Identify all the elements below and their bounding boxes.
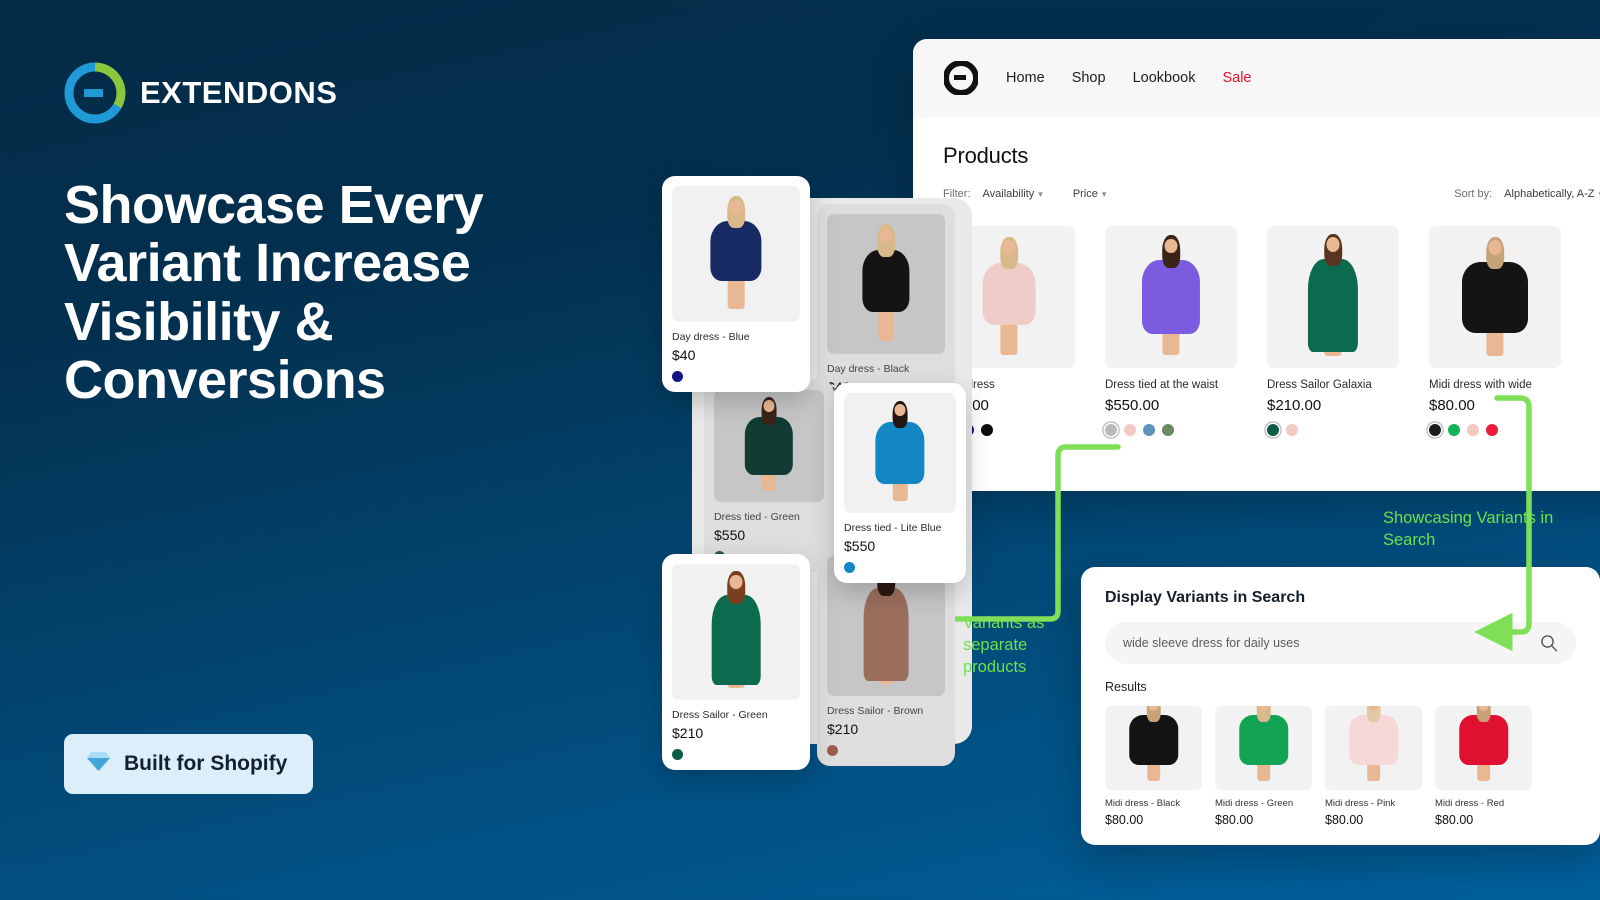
nav-link-sale[interactable]: Sale xyxy=(1222,70,1251,86)
search-input[interactable]: wide sleeve dress for daily uses xyxy=(1105,622,1576,664)
search-result-photo xyxy=(1325,706,1422,790)
variant-price: $550 xyxy=(714,527,824,543)
product-card[interactable]: Midi dress with wide$80.00 xyxy=(1429,226,1561,436)
store-circle-e-logo-icon[interactable] xyxy=(944,61,978,95)
dress-figure xyxy=(1267,226,1399,368)
product-price: $550.00 xyxy=(1105,397,1237,414)
built-for-shopify-badge: Built for Shopify xyxy=(64,734,313,794)
product-name: Dress Sailor Galaxia xyxy=(1267,379,1399,391)
variant-card[interactable]: Dress tied - Lite Blue$550 xyxy=(834,383,966,583)
variant-card[interactable]: Dress Sailor - Green$210 xyxy=(662,554,810,770)
color-swatch[interactable] xyxy=(1486,424,1498,436)
product-photo xyxy=(1267,226,1399,368)
extendons-circle-e-logo-icon xyxy=(64,62,126,124)
dress-figure xyxy=(1105,706,1202,790)
color-swatch[interactable] xyxy=(1162,424,1174,436)
dress-figure xyxy=(827,214,945,354)
diamond-icon xyxy=(86,750,111,778)
search-result-price: $80.00 xyxy=(1105,813,1202,827)
variant-name: Day dress - Blue xyxy=(672,331,800,343)
variant-name: Dress tied - Lite Blue xyxy=(844,522,956,534)
search-result-photo xyxy=(1215,706,1312,790)
color-swatch[interactable] xyxy=(1448,424,1460,436)
search-result-photo xyxy=(1435,706,1532,790)
product-card[interactable]: Dress Sailor Galaxia$210.00 xyxy=(1267,226,1399,436)
variant-color-swatch[interactable] xyxy=(844,562,855,573)
variant-photo xyxy=(827,214,945,354)
page-title: Products xyxy=(943,143,1600,169)
search-panel: Display Variants in Search wide sleeve d… xyxy=(1081,567,1600,845)
badge-label: Built for Shopify xyxy=(124,752,287,776)
variant-photo xyxy=(672,186,800,322)
variant-price: $210 xyxy=(672,725,800,741)
nav-link-shop[interactable]: Shop xyxy=(1072,70,1106,86)
product-price: $80.00 xyxy=(1429,397,1561,414)
variant-card[interactable]: Dress tied - Green$550 xyxy=(704,380,834,572)
search-input-value: wide sleeve dress for daily uses xyxy=(1123,636,1299,650)
swatch-row xyxy=(1267,424,1399,436)
sort-group: Sort by: Alphabetically, A-Z▾ xyxy=(1454,188,1600,200)
product-name: Dress tied at the waist xyxy=(1105,379,1237,391)
variant-price: $40 xyxy=(672,347,800,363)
product-price: $210.00 xyxy=(1267,397,1399,414)
product-grid: Day dress$40.00Dress tied at the waist$5… xyxy=(943,226,1600,436)
chevron-down-icon: ▾ xyxy=(1038,189,1043,199)
product-photo xyxy=(1429,226,1561,368)
search-result-photo xyxy=(1105,706,1202,790)
filter-bar: Filter: Availability▾ Price▾ Sort by: Al… xyxy=(943,188,1600,200)
dress-figure xyxy=(672,564,800,700)
hero-headline: Showcase Every Variant Increase Visibili… xyxy=(64,176,644,409)
search-result-name: Midi dress - Green xyxy=(1215,798,1312,809)
product-name: Midi dress with wide xyxy=(1429,379,1561,391)
variant-photo xyxy=(844,393,956,513)
dress-figure xyxy=(1105,226,1237,368)
swatch-row xyxy=(1105,424,1237,436)
brand-name: EXTENDONS xyxy=(140,75,337,111)
variant-color-swatch[interactable] xyxy=(827,745,838,756)
storefront-nav: Home Shop Lookbook Sale xyxy=(913,39,1600,117)
color-swatch[interactable] xyxy=(1267,424,1279,436)
dress-figure xyxy=(1429,226,1561,368)
variant-price: $210 xyxy=(827,721,945,737)
variant-color-swatch[interactable] xyxy=(672,749,683,760)
results-label: Results xyxy=(1105,680,1576,694)
variant-name: Day dress - Black xyxy=(827,363,945,375)
color-swatch[interactable] xyxy=(1429,424,1441,436)
search-result-card[interactable]: Midi dress - Red$80.00 xyxy=(1435,706,1532,827)
color-swatch[interactable] xyxy=(1286,424,1298,436)
dress-figure xyxy=(844,393,956,513)
variant-photo xyxy=(714,390,824,502)
filter-availability[interactable]: Availability▾ xyxy=(983,188,1043,200)
swatch-row xyxy=(1429,424,1561,436)
dress-figure xyxy=(714,390,824,502)
search-result-card[interactable]: Midi dress - Black$80.00 xyxy=(1105,706,1202,827)
annotation-showcasing-variants-in-search: Showcasing Variants in Search xyxy=(1383,508,1583,552)
dress-figure xyxy=(1435,706,1532,790)
nav-link-home[interactable]: Home xyxy=(1006,70,1045,86)
chevron-down-icon: ▾ xyxy=(1102,189,1107,199)
dress-figure xyxy=(672,186,800,322)
brand-logo: EXTENDONS xyxy=(64,62,337,124)
sort-select[interactable]: Alphabetically, A-Z▾ xyxy=(1504,188,1600,200)
search-result-card[interactable]: Midi dress - Pink$80.00 xyxy=(1325,706,1422,827)
variant-name: Dress tied - Green xyxy=(714,511,824,523)
search-result-price: $80.00 xyxy=(1215,813,1312,827)
color-swatch[interactable] xyxy=(981,424,993,436)
variant-card-stack: Day dress - Blue$40Day dress - Black$40D… xyxy=(662,176,972,766)
annotation-variants-as-separate-products: Variants as separate products xyxy=(963,613,1093,678)
magnifier-icon[interactable] xyxy=(1540,634,1558,652)
storefront-window: Home Shop Lookbook Sale Products Filter:… xyxy=(913,39,1600,491)
filter-availability-label: Availability xyxy=(983,188,1035,200)
color-swatch[interactable] xyxy=(1124,424,1136,436)
nav-link-lookbook[interactable]: Lookbook xyxy=(1133,70,1196,86)
dress-figure xyxy=(1215,706,1312,790)
product-card[interactable]: Dress tied at the waist$550.00 xyxy=(1105,226,1237,436)
product-photo xyxy=(1105,226,1237,368)
search-result-name: Midi dress - Red xyxy=(1435,798,1532,809)
variant-price: $550 xyxy=(844,538,956,554)
variant-name: Dress Sailor - Brown xyxy=(827,705,945,717)
search-panel-title: Display Variants in Search xyxy=(1105,589,1576,607)
variant-photo xyxy=(672,564,800,700)
variant-color-swatch[interactable] xyxy=(672,371,683,382)
search-result-name: Midi dress - Black xyxy=(1105,798,1202,809)
variant-name: Dress Sailor - Green xyxy=(672,709,800,721)
filter-price[interactable]: Price▾ xyxy=(1073,188,1107,200)
search-result-name: Midi dress - Pink xyxy=(1325,798,1422,809)
sort-label: Sort by: xyxy=(1454,188,1492,200)
storefront-body: Products Filter: Availability▾ Price▾ So… xyxy=(913,117,1600,436)
results-grid: Midi dress - Black$80.00Midi dress - Gre… xyxy=(1105,706,1576,827)
filter-price-label: Price xyxy=(1073,188,1098,200)
search-result-price: $80.00 xyxy=(1325,813,1422,827)
variant-card[interactable]: Day dress - Blue$40 xyxy=(662,176,810,392)
dress-figure xyxy=(1325,706,1422,790)
search-result-price: $80.00 xyxy=(1435,813,1532,827)
search-result-card[interactable]: Midi dress - Green$80.00 xyxy=(1215,706,1312,827)
hero-panel: EXTENDONS Showcase Every Variant Increas… xyxy=(0,0,660,900)
color-swatch[interactable] xyxy=(1467,424,1479,436)
sort-value: Alphabetically, A-Z xyxy=(1504,188,1594,200)
color-swatch[interactable] xyxy=(1143,424,1155,436)
color-swatch[interactable] xyxy=(1105,424,1117,436)
